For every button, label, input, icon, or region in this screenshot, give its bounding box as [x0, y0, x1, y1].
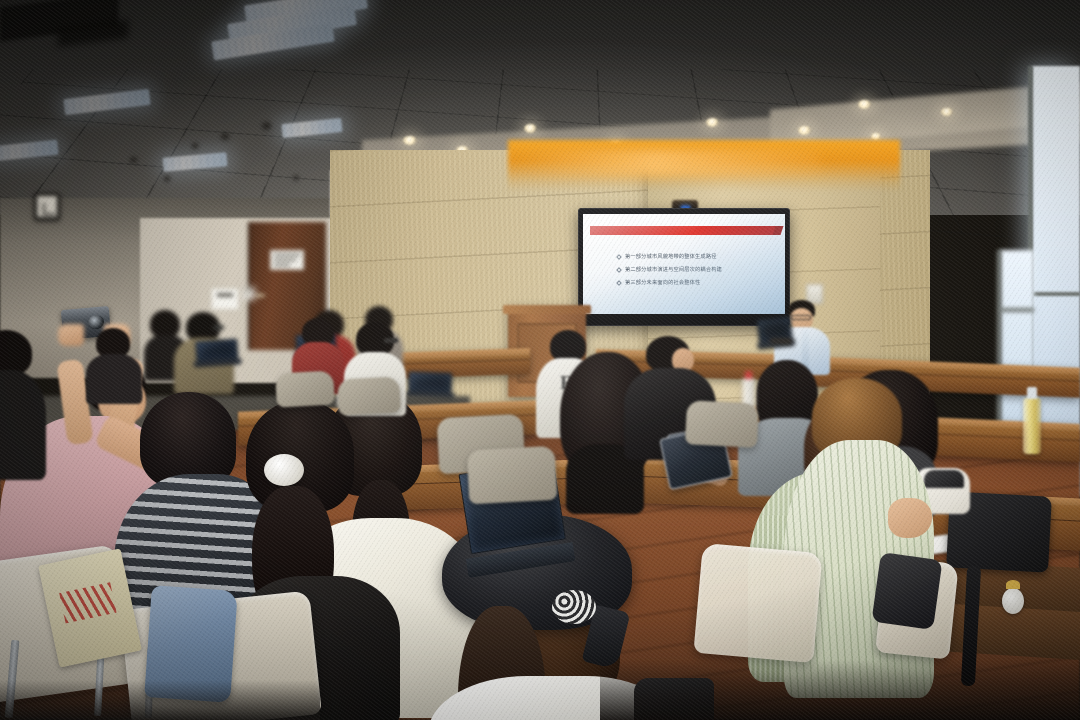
slide-bullet-list: 第一部分城市风貌地带的整体生成路径 第二部分城市演进与空间层次的耦合构建 第三部…	[617, 254, 773, 293]
bullet-marker-icon	[616, 267, 622, 273]
cove-light-glow	[520, 150, 820, 176]
downlight	[871, 133, 881, 140]
chair[interactable]	[337, 376, 401, 415]
slide-accent-bar	[590, 226, 776, 235]
slide-bullet-text: 第一部分城市风貌地带的整体生成路径	[625, 254, 717, 260]
slide-bullet: 第一部分城市风貌地带的整体生成路径	[617, 254, 773, 260]
bag-charm	[1002, 588, 1024, 614]
eyeglasses-icon	[213, 325, 224, 330]
chair[interactable]	[685, 400, 759, 448]
slide-bullet-text: 第二部分城市演进与空间层次的耦合构建	[625, 267, 722, 273]
eyeglasses-icon	[384, 338, 398, 343]
laptop-presenter[interactable]	[757, 316, 794, 349]
downlight	[858, 100, 871, 109]
window-frame	[1000, 308, 1034, 312]
wall-placard	[211, 288, 239, 310]
presentation-display[interactable]: 第一部分城市风貌地带的整体生成路径 第二部分城市演进与空间层次的耦合构建 第三部…	[578, 208, 790, 326]
camera-lens-icon	[87, 314, 104, 329]
downlight	[524, 124, 537, 133]
door-handle-icon[interactable]	[255, 294, 265, 297]
chair[interactable]	[467, 446, 558, 505]
downlight	[706, 118, 719, 127]
downlight	[798, 126, 811, 135]
hand-left	[58, 324, 84, 346]
window-frame	[1032, 292, 1080, 296]
lecture-room-photo: 第一部分城市风貌地带的整体生成路径 第二部分城市演进与空间层次的耦合构建 第三部…	[0, 0, 1080, 720]
chair[interactable]	[693, 543, 822, 663]
hand	[888, 498, 932, 538]
bullet-marker-icon	[616, 254, 622, 260]
slide-bullet: 第三部分未来面向的社会整体性	[617, 280, 773, 286]
slide-bullet: 第二部分城市演进与空间层次的耦合构建	[617, 267, 773, 273]
thermos-lid	[924, 470, 964, 488]
microphone-icon	[770, 338, 792, 344]
wall-placard-small	[243, 287, 255, 300]
hair-clip	[552, 590, 596, 624]
charm-bow-icon	[1006, 580, 1020, 589]
laptop-mid[interactable]	[408, 371, 453, 399]
chair-backrest-dark	[871, 552, 942, 630]
water-bottle[interactable]	[1023, 398, 1041, 454]
laptop-back[interactable]	[195, 339, 239, 368]
slide-content: 第一部分城市风貌地带的整体生成路径 第二部分城市演进与空间层次的耦合构建 第三部…	[583, 214, 785, 314]
downlight	[941, 108, 953, 116]
foreground-shadow	[0, 680, 320, 720]
foreground-shadow	[600, 660, 1080, 720]
downlight	[403, 136, 417, 145]
bullet-marker-icon	[616, 280, 622, 286]
door-notice-sign	[270, 250, 304, 270]
eyeglasses-icon	[791, 315, 811, 320]
slide-bullet-text: 第三部分未来面向的社会整体性	[625, 280, 700, 286]
wall-clock-icon	[34, 193, 60, 220]
chair[interactable]	[275, 371, 335, 408]
hair-scrunchie	[264, 454, 304, 486]
